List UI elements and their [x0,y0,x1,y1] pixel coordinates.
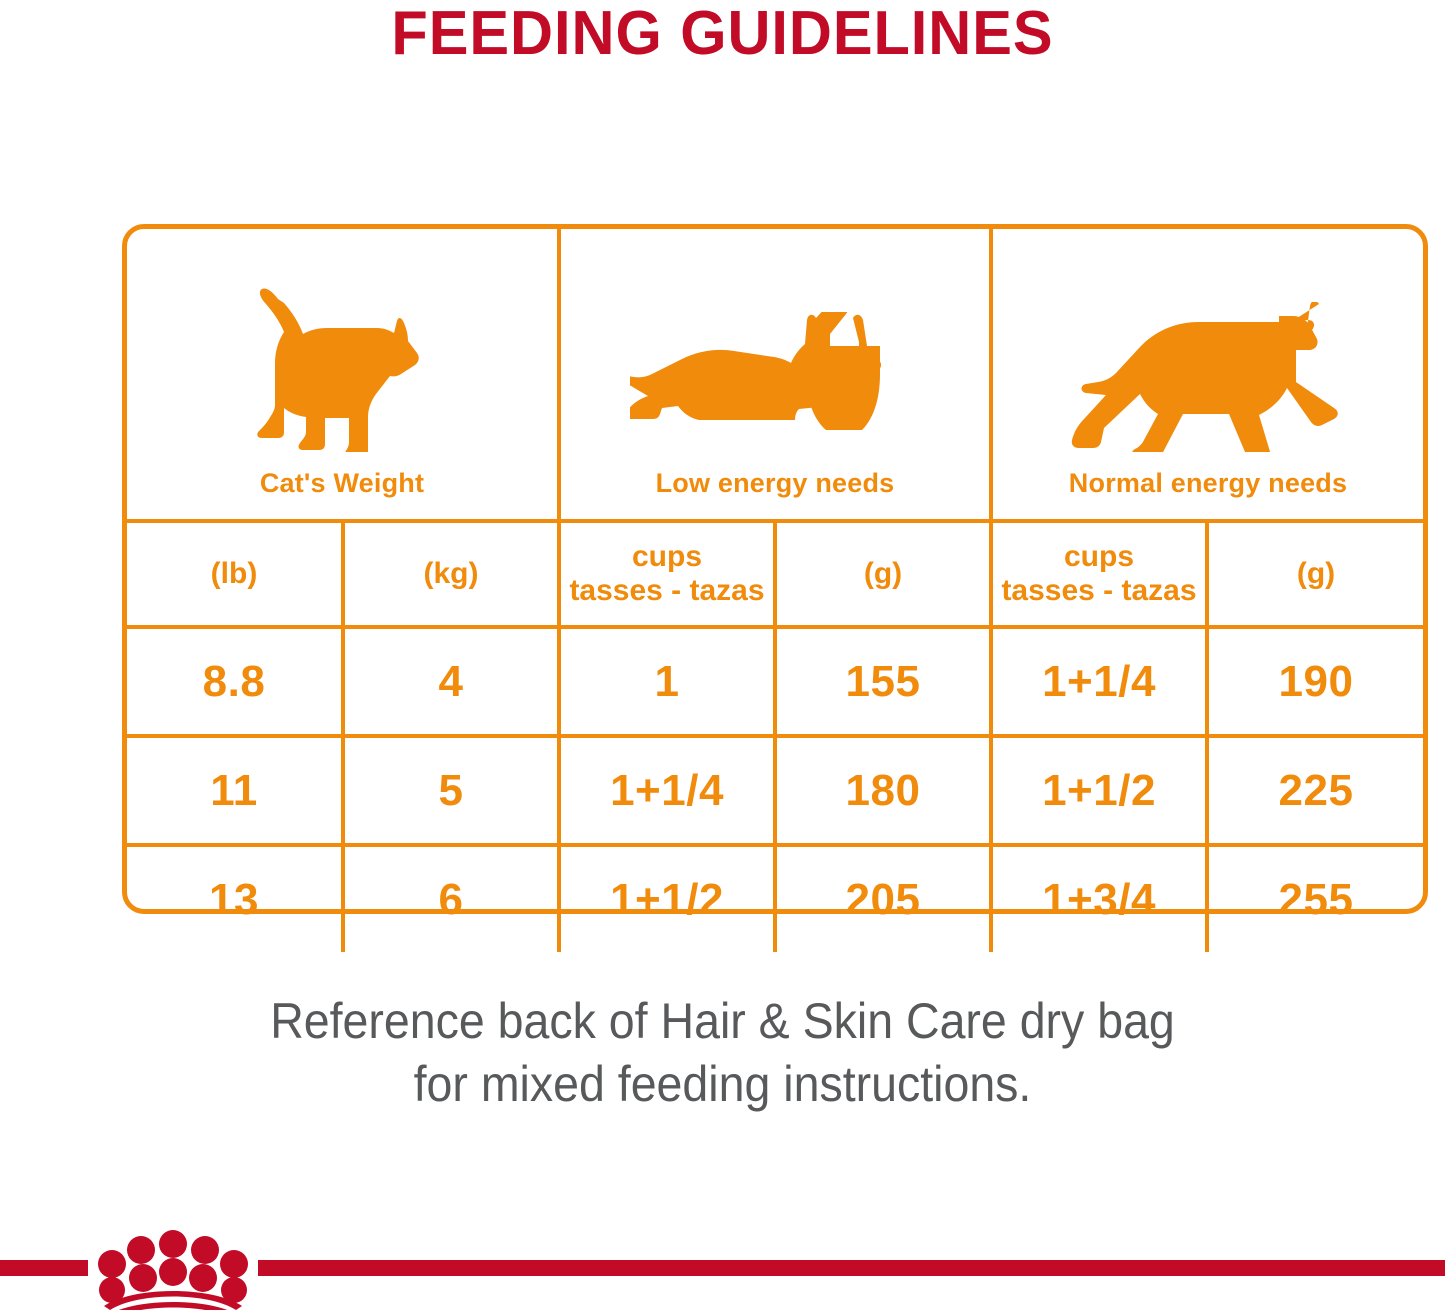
royal-canin-crown-logo [88,1226,258,1310]
feeding-note-line1: Reference back of Hair & Skin Care dry b… [51,990,1395,1053]
units-cell-kg: (kg) [343,521,559,627]
cell-low-cups: 1 [559,627,775,736]
brand-rule-left [0,1260,88,1276]
units-line1: (lb) [127,557,341,591]
cell-normal-cups: 1+1/2 [991,736,1207,845]
cell-weight-lb: 11 [127,736,343,845]
feeding-note: Reference back of Hair & Skin Care dry b… [51,990,1395,1116]
cell-low-grams: 155 [775,627,991,736]
units-cell-lb: (lb) [127,521,343,627]
units-cell-normal-cups: cups tasses - tazas [991,521,1207,627]
units-line1: (g) [777,557,989,591]
cell-weight-lb: 8.8 [127,627,343,736]
units-line1: (kg) [345,557,557,591]
units-cell-low-cups: cups tasses - tazas [559,521,775,627]
feeding-guidelines-table: Cat's Weight Low energy needs [122,224,1428,914]
cell-normal-grams: 225 [1207,736,1423,845]
units-line2: tasses - tazas [993,574,1205,608]
cell-weight-kg: 4 [343,627,559,736]
units-cell-low-grams: (g) [775,521,991,627]
units-line1: (g) [1209,557,1423,591]
table-row: 13 6 1+1/2 205 1+3/4 255 [127,845,1423,952]
cell-low-grams: 205 [775,845,991,952]
table-units-row: (lb) (kg) cups tasses - tazas (g) cups t… [127,521,1423,627]
header-cell-normal-energy: Normal energy needs [991,229,1423,521]
cat-walking-icon [1063,302,1353,452]
header-label-cats-weight: Cat's Weight [260,468,424,499]
page-title: FEEDING GUIDELINES [29,0,1416,68]
header-label-low-energy: Low energy needs [656,468,895,499]
cell-weight-kg: 6 [343,845,559,952]
cell-low-cups: 1+1/4 [559,736,775,845]
table-row: 11 5 1+1/4 180 1+1/2 225 [127,736,1423,845]
cell-weight-kg: 5 [343,736,559,845]
units-line1: cups [993,540,1205,574]
cat-standing-icon [242,277,442,452]
header-label-normal-energy: Normal energy needs [1069,468,1347,499]
cell-normal-grams: 255 [1207,845,1423,952]
units-cell-normal-grams: (g) [1207,521,1423,627]
brand-rule-right [258,1260,1445,1276]
table-icon-header-row: Cat's Weight Low energy needs [127,229,1423,521]
units-line1: cups [561,540,773,574]
header-cell-cats-weight: Cat's Weight [127,229,559,521]
cell-normal-cups: 1+1/4 [991,627,1207,736]
units-line2: tasses - tazas [561,574,773,608]
cell-normal-cups: 1+3/4 [991,845,1207,952]
table-row: 8.8 4 1 155 1+1/4 190 [127,627,1423,736]
header-cell-low-energy: Low energy needs [559,229,991,521]
cell-weight-lb: 13 [127,845,343,952]
brand-bar [0,1226,1445,1310]
cell-low-cups: 1+1/2 [559,845,775,952]
cat-lying-icon [630,312,920,452]
feeding-note-line2: for mixed feeding instructions. [51,1053,1395,1116]
cell-low-grams: 180 [775,736,991,845]
cell-normal-grams: 190 [1207,627,1423,736]
